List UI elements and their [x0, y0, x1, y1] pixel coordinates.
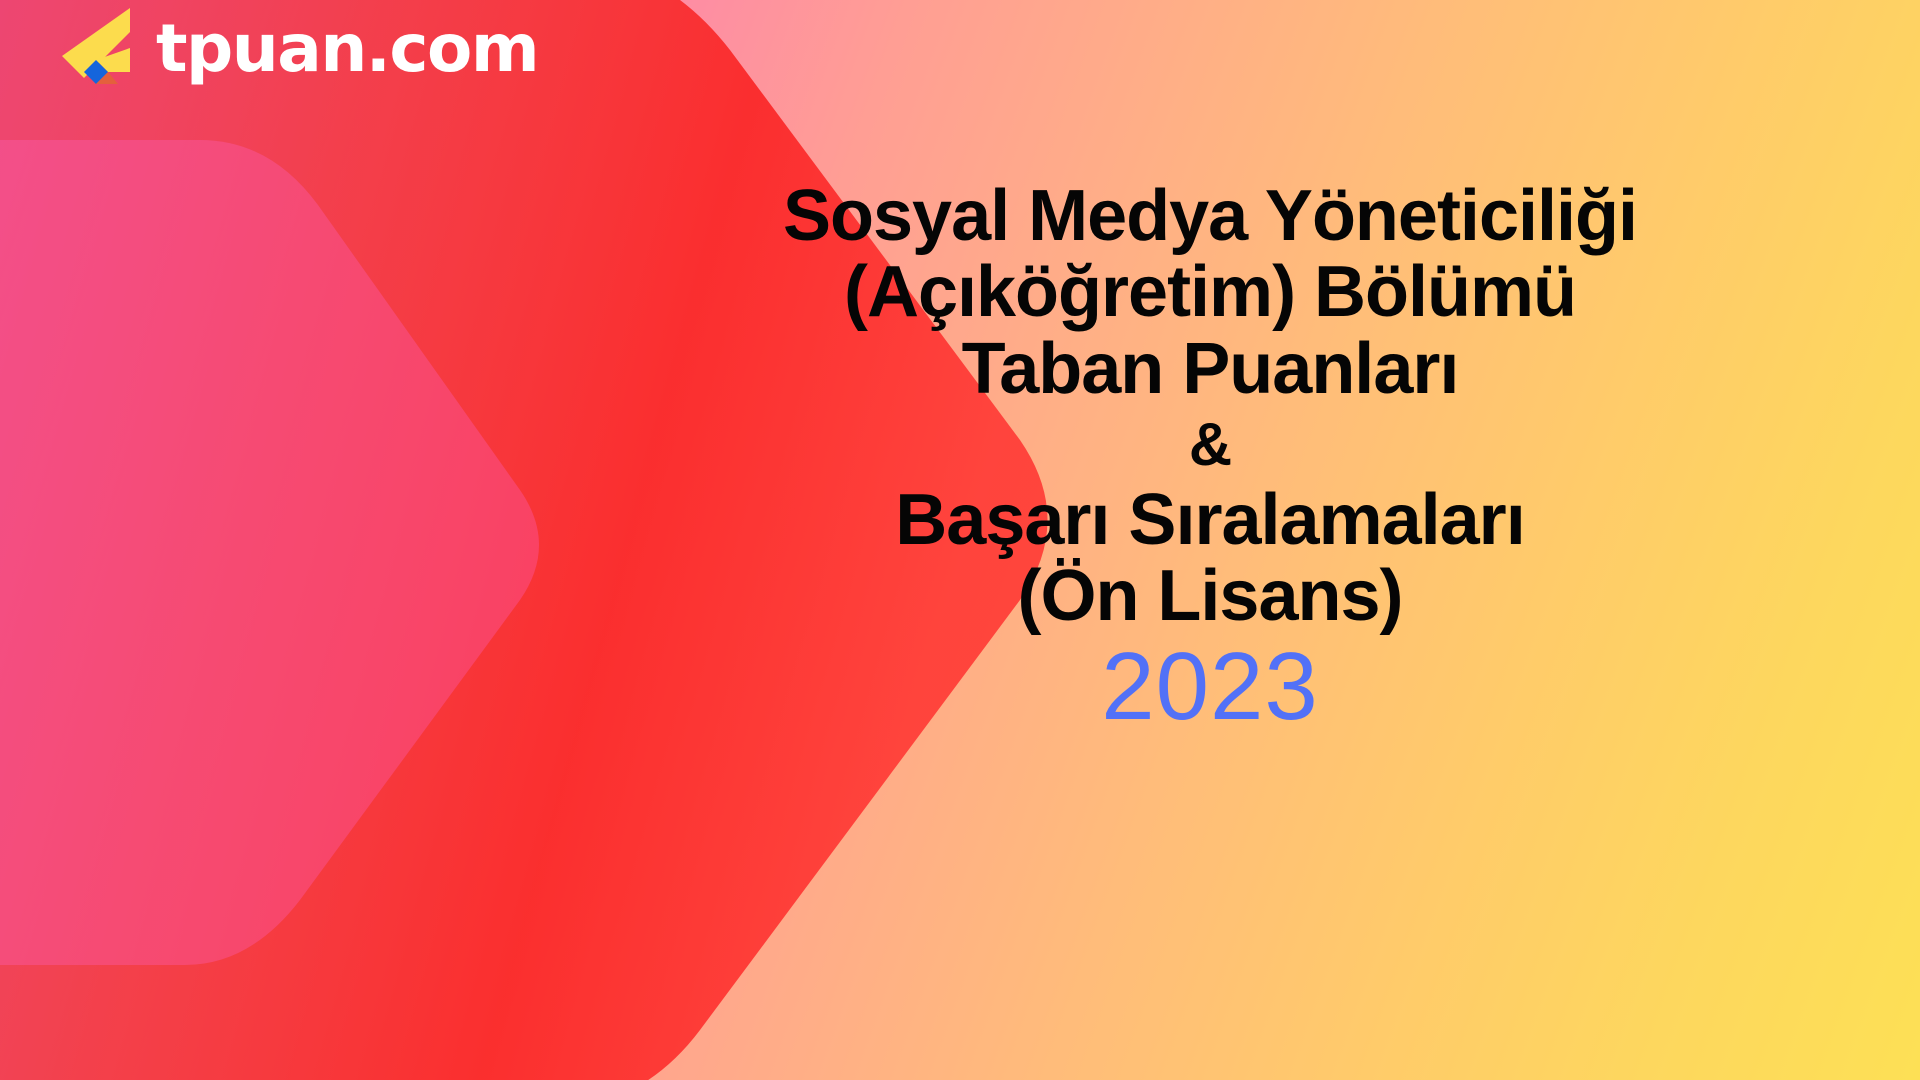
year-label: 2023	[560, 639, 1860, 735]
title-line-1: Sosyal Medya Yöneticiliği	[560, 178, 1860, 254]
title-line-3: Taban Puanları	[560, 331, 1860, 407]
page-title: Sosyal Medya Yöneticiliği (Açıköğretim) …	[560, 178, 1860, 735]
title-line-4: Başarı Sıralamaları	[560, 482, 1860, 558]
flutter-logo-icon	[60, 6, 138, 92]
title-ampersand: &	[560, 407, 1860, 482]
banner-canvas: tpuan.com Sosyal Medya Yöneticiliği (Açı…	[0, 0, 1920, 1080]
site-logo-text: tpuan.com	[156, 16, 538, 82]
title-line-2: (Açıköğretim) Bölümü	[560, 254, 1860, 330]
title-line-5: (Ön Lisans)	[560, 558, 1860, 634]
site-logo[interactable]: tpuan.com	[60, 6, 538, 92]
